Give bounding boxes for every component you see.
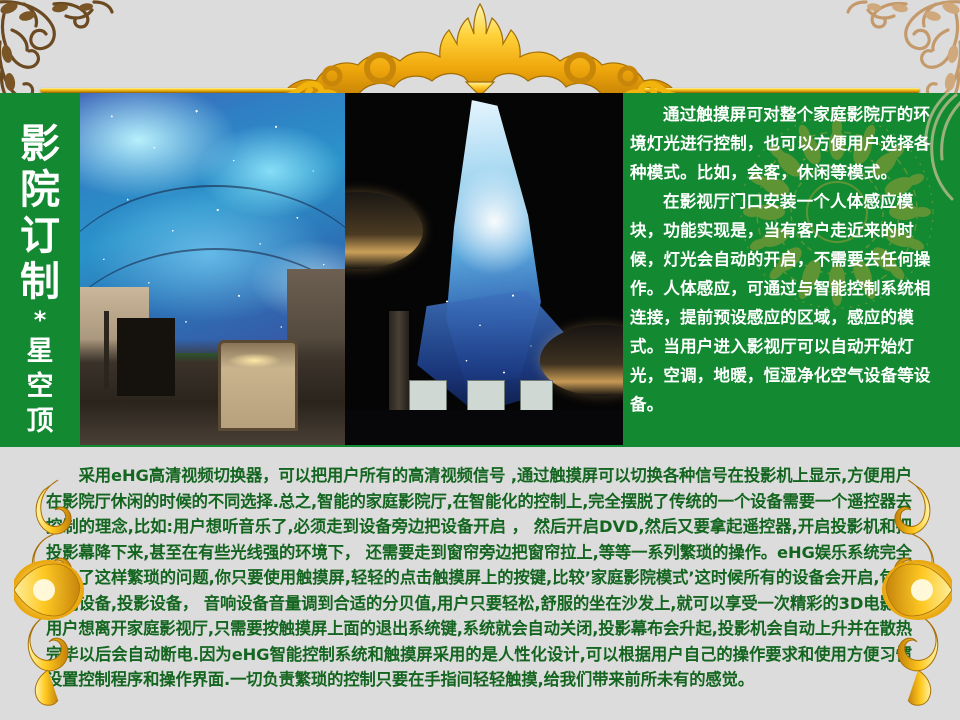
bottom-paragraph-1: 采用eHG高清视频切换器，可以把用户所有的高清视频信号 ,通过触摸屏可以切换各种… (46, 463, 912, 693)
title-char-4: 制 (20, 259, 60, 305)
title-column: 影 院 订 制 * 星 空 顶 (0, 93, 80, 447)
photo-starry-stretch-ceiling-corridor (80, 93, 345, 445)
photo-b-window (467, 380, 505, 414)
slide-canvas: 影 院 订 制 * 星 空 顶 通过触摸屏可对整个家庭影 (0, 0, 960, 720)
title-char-1: 影 (20, 121, 60, 167)
right-description-panel: 通过触摸屏可对整个家庭影院厅的环境灯光进行控制，也可以方便用户选择各种模式。比如… (630, 100, 942, 445)
bottom-description-panel: 采用eHG高清视频切换器，可以把用户所有的高清视频信号 ,通过触摸屏可以切换各种… (0, 455, 960, 720)
bottom-text-block: 采用eHG高清视频切换器，可以把用户所有的高清视频信号 ,通过触摸屏可以切换各种… (46, 463, 912, 693)
photo-a-column (104, 311, 109, 388)
title-char-3: 订 (20, 213, 60, 259)
subtitle-char-3: 顶 (27, 405, 54, 438)
photo-a-dark-opening (117, 318, 175, 395)
right-paragraph-1: 通过触摸屏可对整个家庭影院厅的环境灯光进行控制，也可以方便用户选择各种模式。比如… (630, 100, 942, 187)
title-separator-star: * (34, 307, 47, 333)
photo-b-window (520, 380, 553, 414)
gold-crest-ornament-icon (270, 0, 690, 104)
photo-b-foreground (345, 410, 623, 445)
photo-b-window (409, 380, 447, 414)
right-paragraph-2: 在影视厅门口安装一个人体感应模块，功能实现是，当有客户走近来的时候，灯光会自动的… (630, 187, 942, 419)
subtitle-char-2: 空 (27, 370, 54, 403)
subtitle-char-1: 星 (27, 335, 54, 368)
photo-b-column (389, 311, 408, 417)
photo-a-lamp-glow (228, 353, 281, 367)
title-char-2: 院 (20, 167, 60, 213)
photo-curved-sky-ceiling-lounge (345, 93, 623, 445)
